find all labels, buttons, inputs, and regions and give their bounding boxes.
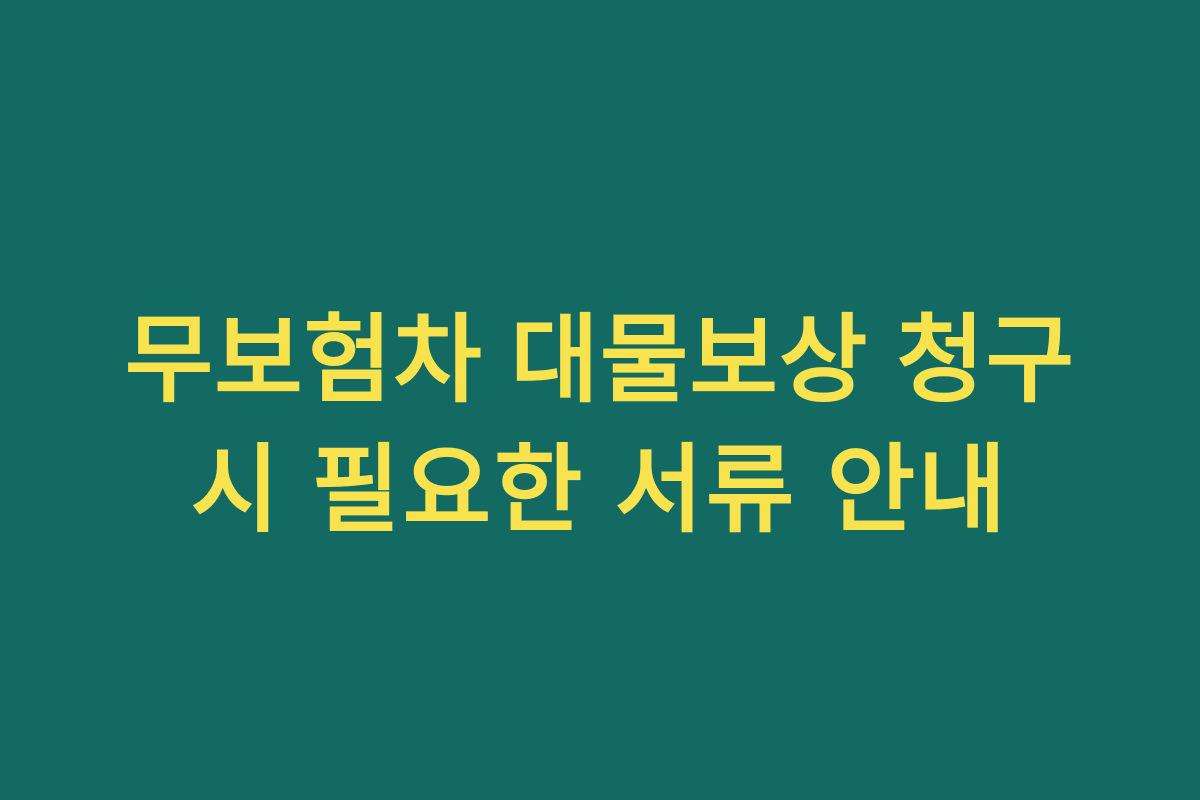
title-text-block: 무보험차 대물보상 청구 시 필요한 서류 안내 bbox=[0, 296, 1200, 556]
title-line-1: 무보험차 대물보상 청구 bbox=[125, 296, 1075, 426]
title-card-canvas: 무보험차 대물보상 청구 시 필요한 서류 안내 bbox=[0, 0, 1200, 800]
title-line-2: 시 필요한 서류 안내 bbox=[191, 426, 1009, 556]
